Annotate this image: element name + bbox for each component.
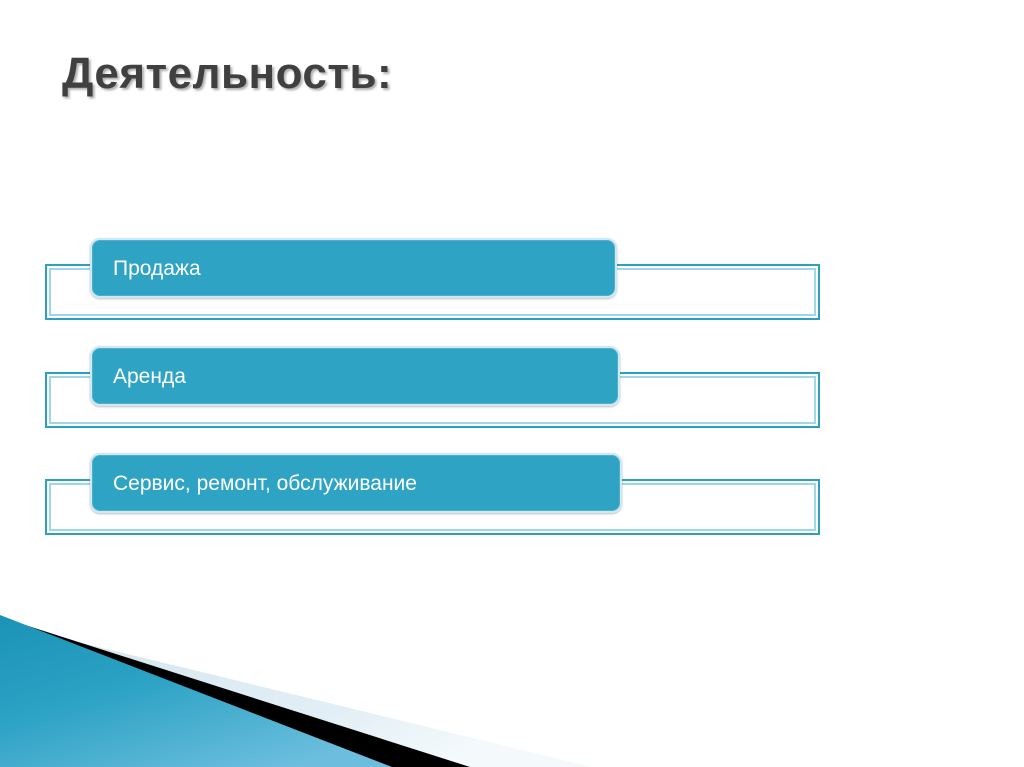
row-chip[interactable]: Сервис, ремонт, обслуживание xyxy=(90,453,622,513)
diagram-row[interactable]: Аренда xyxy=(0,340,1024,450)
diagram-container: Продажа Аренда Сервис, ремонт, обслужива… xyxy=(0,0,1024,600)
row-label: Аренда xyxy=(92,366,186,387)
diagram-row[interactable]: Продажа xyxy=(0,232,1024,342)
teal-triangle-shape xyxy=(0,615,392,767)
corner-decoration-graphic xyxy=(0,587,1024,767)
diagram-row[interactable]: Сервис, ремонт, обслуживание xyxy=(0,447,1024,557)
row-chip[interactable]: Аренда xyxy=(90,346,620,406)
pale-blue-band-shape xyxy=(0,623,592,767)
row-label: Сервис, ремонт, обслуживание xyxy=(92,473,417,494)
row-label: Продажа xyxy=(92,258,201,279)
row-chip[interactable]: Продажа xyxy=(90,238,617,298)
slide-canvas: Деятельность: Продажа Аренда Сервис, рем… xyxy=(0,0,1024,767)
black-stripe-shape xyxy=(0,617,470,767)
